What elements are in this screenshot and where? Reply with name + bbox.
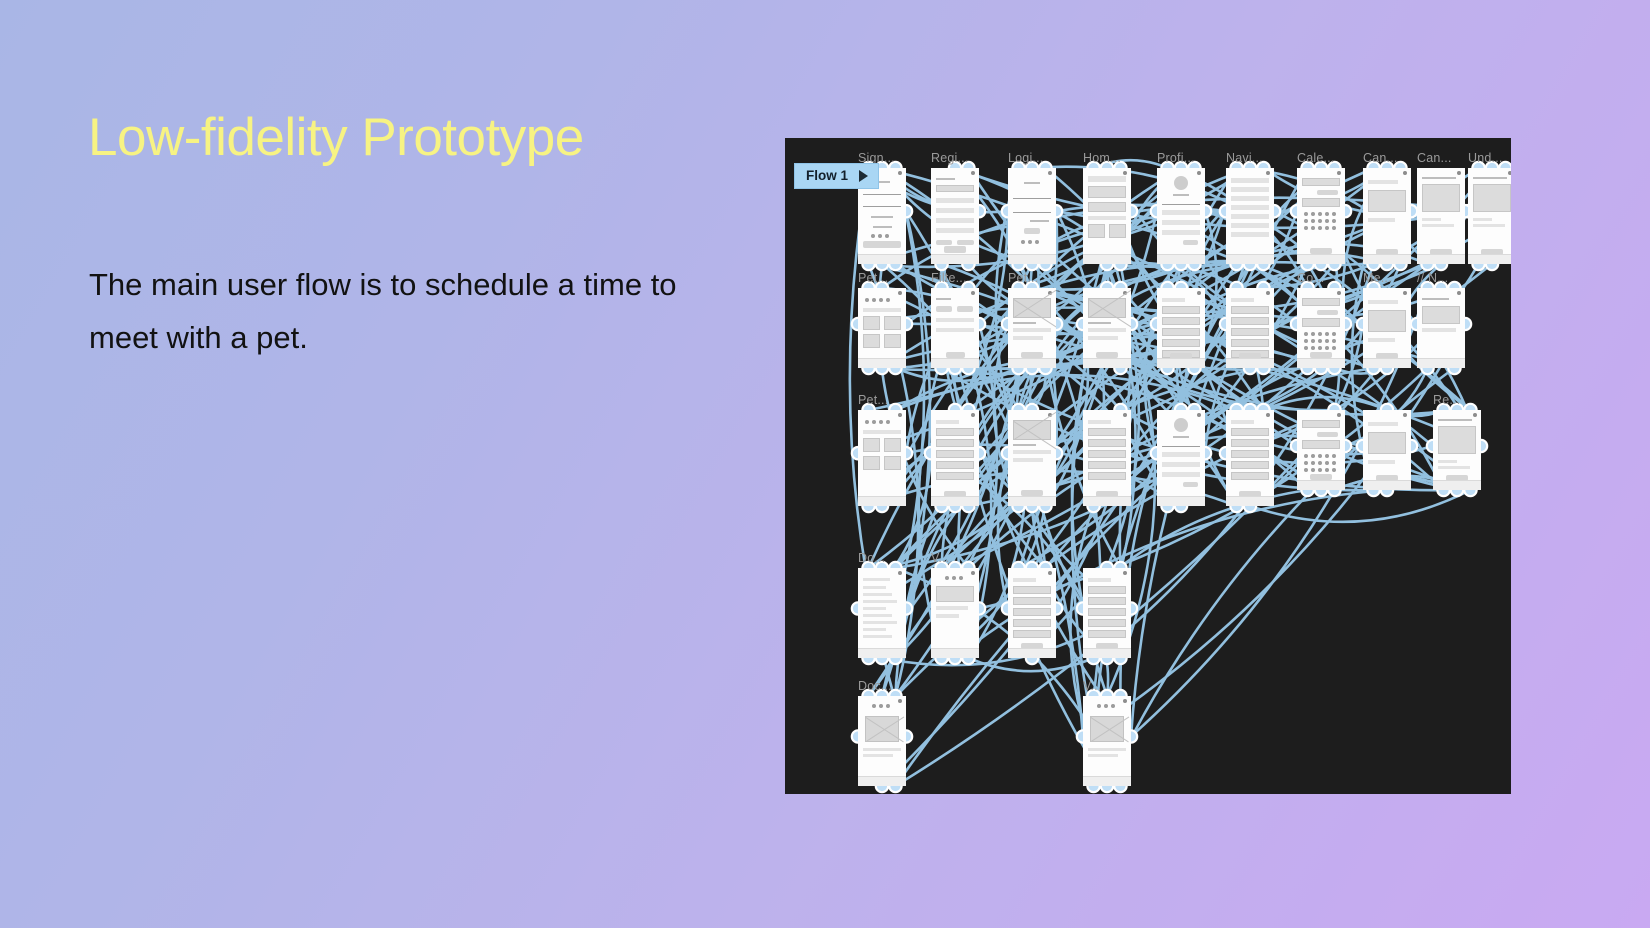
prototype-frame[interactable]: Co... — [1297, 288, 1345, 368]
prototype-frame[interactable]: V... — [1083, 696, 1131, 786]
frame-label: Cale... — [1297, 152, 1335, 165]
frame-label: Profi... — [1157, 152, 1195, 165]
frame-wireframe — [1083, 168, 1131, 264]
frame-wireframe — [1008, 288, 1056, 368]
prototype-canvas[interactable]: Flow 1 Sign... Regi... Logi... Hom... Pr… — [785, 138, 1511, 794]
prototype-frame[interactable]: Regi... — [931, 168, 979, 264]
frame-label: Logi... — [1008, 152, 1043, 165]
page-title: Low-fidelity Prototype — [88, 108, 584, 169]
frame-wireframe — [858, 568, 906, 658]
frame-wireframe — [1157, 288, 1205, 368]
frame-wireframe — [1157, 410, 1205, 506]
prototype-frame[interactable]: Pet... — [858, 410, 906, 506]
prototype-frame[interactable]: Cale... — [1297, 168, 1345, 264]
frame-wireframe — [1363, 410, 1411, 490]
frame-wireframe — [1008, 568, 1056, 658]
frame-label: Pet... — [858, 272, 888, 285]
prototype-frame[interactable]: Doc... — [858, 696, 906, 786]
prototype-frame[interactable] — [931, 410, 979, 506]
frame-wireframe — [1417, 288, 1465, 368]
slide-text-pane: Low-fidelity Prototype The main user flo… — [0, 0, 780, 928]
prototype-frame[interactable]: Can... — [1417, 168, 1465, 264]
frame-label: Re... — [1433, 394, 1460, 407]
frame-wireframe — [1226, 168, 1274, 264]
frame-wireframe — [1008, 410, 1056, 506]
frame-label: Pet... — [858, 394, 888, 407]
prototype-frame[interactable]: Profi... — [1157, 168, 1205, 264]
frame-wireframe — [1083, 410, 1131, 506]
frame-label: Do... — [858, 552, 885, 565]
prototype-frame[interactable]: Re... — [1433, 410, 1481, 490]
frame-wireframe — [1083, 696, 1131, 786]
frame-wireframe — [858, 288, 906, 368]
frame-wireframe — [1008, 168, 1056, 264]
prototype-frame[interactable]: Hom... — [1083, 168, 1131, 264]
prototype-frame[interactable]: Me... — [1363, 288, 1411, 368]
frame-wireframe — [931, 568, 979, 658]
frame-wireframe — [1157, 168, 1205, 264]
prototype-frame[interactable] — [1008, 410, 1056, 506]
prototype-frame[interactable] — [1226, 288, 1274, 368]
prototype-frame[interactable]: Pet... — [858, 288, 906, 368]
frame-label: Pet... — [1008, 272, 1038, 285]
prototype-frame[interactable] — [1083, 288, 1131, 368]
prototype-frame[interactable]: // N... — [1417, 288, 1465, 368]
flow-badge-label: Flow 1 — [806, 169, 848, 183]
frame-label: Und... — [1468, 152, 1503, 165]
frame-wireframe — [1433, 410, 1481, 490]
prototype-frame[interactable] — [1363, 410, 1411, 490]
prototype-frame[interactable] — [1008, 568, 1056, 658]
prototype-frame[interactable]: Und... — [1468, 168, 1511, 264]
flow-badge[interactable]: Flow 1 — [794, 163, 879, 189]
prototype-frame[interactable]: Navi... — [1226, 168, 1274, 264]
prototype-frame[interactable] — [1083, 410, 1131, 506]
frame-wireframe — [1363, 288, 1411, 368]
prototype-frame[interactable]: Pet... — [1008, 288, 1056, 368]
frame-wireframe — [1417, 168, 1465, 264]
prototype-frame[interactable] — [1157, 288, 1205, 368]
frame-label: Hom... — [1083, 152, 1121, 165]
frame-label: // N... — [1417, 272, 1448, 285]
frame-wireframe — [1297, 410, 1345, 490]
prototype-frame[interactable]: Logi... — [1008, 168, 1056, 264]
frame-label: V... — [931, 552, 949, 565]
frame-label: Can... — [1417, 152, 1452, 165]
frame-label: Can... — [1363, 152, 1398, 165]
frame-wireframe — [1226, 410, 1274, 506]
prototype-frame[interactable] — [1157, 410, 1205, 506]
play-triangle-icon[interactable] — [859, 170, 868, 182]
frame-wireframe — [1226, 288, 1274, 368]
frame-wireframe — [931, 410, 979, 506]
frame-wireframe — [1363, 168, 1411, 264]
frame-wireframe — [931, 288, 979, 368]
frame-wireframe — [858, 410, 906, 506]
frame-wireframe — [1083, 288, 1131, 368]
frame-wireframe — [858, 696, 906, 786]
frame-wireframe — [931, 168, 979, 264]
frame-wireframe — [1297, 168, 1345, 264]
prototype-frame[interactable]: Filte... — [931, 288, 979, 368]
frame-label: Me... — [1363, 272, 1392, 285]
prototype-frame[interactable]: V... — [931, 568, 979, 658]
prototype-frame[interactable] — [1083, 568, 1131, 658]
prototype-frame[interactable]: Can... — [1363, 168, 1411, 264]
slide-body-text: The main user flow is to schedule a time… — [89, 258, 749, 365]
frame-wireframe — [1297, 288, 1345, 368]
frame-label: Navi... — [1226, 152, 1263, 165]
frame-label: V... — [1083, 680, 1101, 693]
prototype-frame[interactable]: Do... — [858, 568, 906, 658]
prototype-frame[interactable] — [1297, 410, 1345, 490]
frame-wireframe — [1083, 568, 1131, 658]
frame-label: Co... — [1297, 272, 1324, 285]
frame-label: Regi... — [931, 152, 969, 165]
frame-wireframe — [1468, 168, 1511, 264]
frame-label: Filte... — [931, 272, 967, 285]
prototype-frame[interactable] — [1226, 410, 1274, 506]
frame-label: Doc... — [858, 680, 892, 693]
